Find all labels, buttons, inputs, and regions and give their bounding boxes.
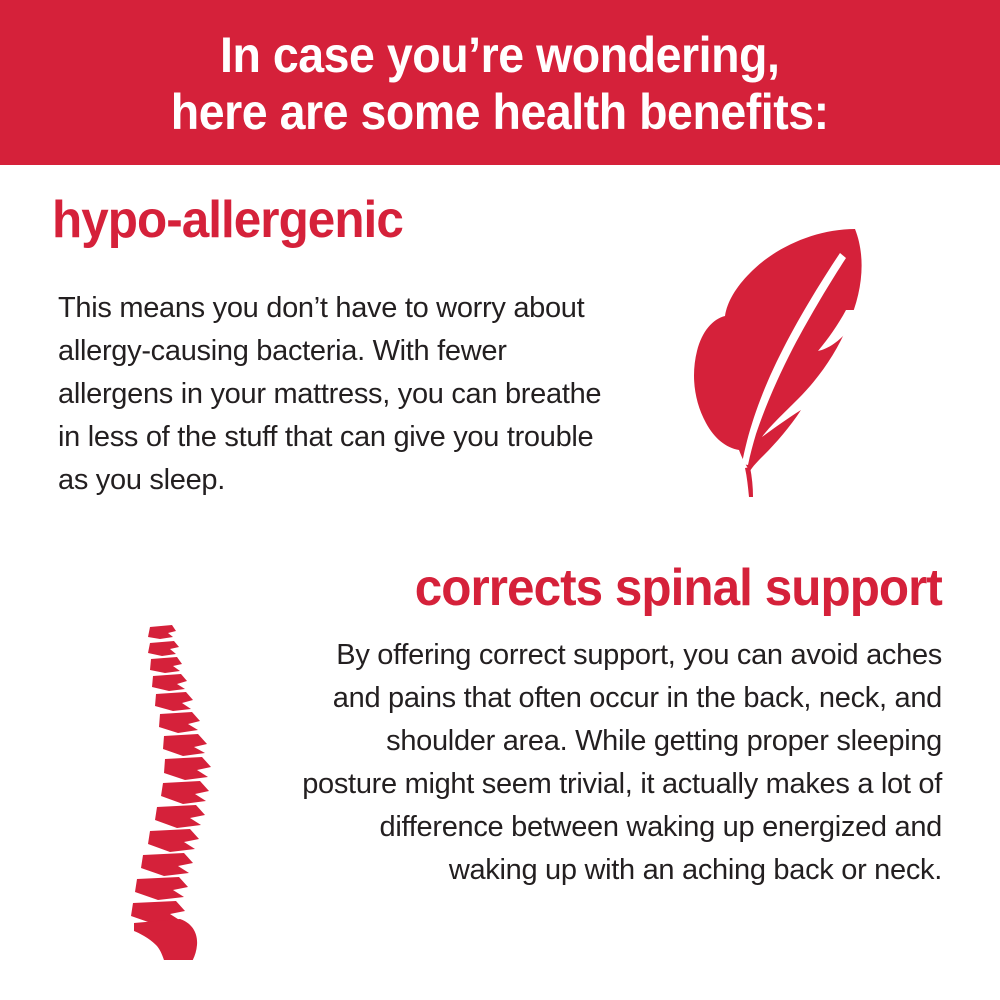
spine-icon [110, 615, 270, 960]
header-banner: In case you’re wondering, here are some … [0, 0, 1000, 165]
section-heading-hypo-allergenic: hypo-allergenic [52, 192, 403, 248]
section-heading-corrects-spinal-support: corrects spinal support [415, 560, 942, 616]
header-banner-text: In case you’re wondering, here are some … [171, 25, 829, 141]
feather-icon [670, 215, 900, 500]
header-banner-line-1: In case you’re wondering, [171, 27, 829, 84]
section-body-hypo-allergenic: This means you don’t have to worry about… [58, 287, 618, 502]
section-body-corrects-spinal-support: By offering correct support, you can avo… [302, 634, 942, 892]
infographic-page: In case you’re wondering, here are some … [0, 0, 1000, 1000]
header-banner-line-2: here are some health benefits: [171, 84, 829, 141]
